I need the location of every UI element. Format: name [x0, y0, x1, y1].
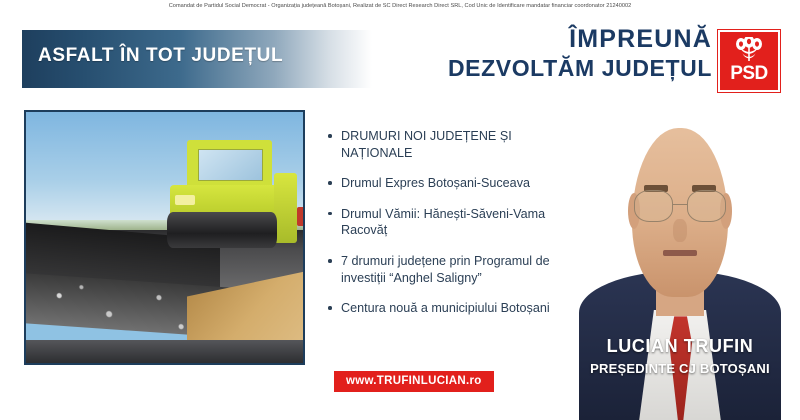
candidate-role: PREȘEDINTE CJ BOTOȘANI: [560, 361, 800, 376]
portrait-nose: [673, 219, 687, 242]
road-works-photo: [24, 110, 305, 365]
list-item-label: Drumul Expres Botoșani-Suceava: [341, 176, 530, 190]
candidate-name: LUCIAN TRUFIN: [560, 336, 800, 357]
website-link[interactable]: www.TRUFINLUCIAN.ro: [334, 371, 494, 392]
page-title: ASFALT ÎN TOT JUDEȚUL: [38, 45, 283, 67]
rose-emblem-icon: [720, 36, 778, 64]
list-item: 7 drumuri județene prin Programul de inv…: [326, 253, 586, 286]
candidate-name-block: LUCIAN TRUFIN PREȘEDINTE CJ BOTOȘANI: [560, 336, 800, 376]
psd-logo-text: PSD: [720, 63, 778, 85]
bullet-dot-icon: [328, 134, 332, 138]
background-truck: [297, 207, 305, 226]
promise-list: DRUMURI NOI JUDEȚENE ȘI NAȚIONALE Drumul…: [326, 128, 586, 331]
bullet-dot-icon: [328, 212, 332, 216]
list-item-label: Drumul Vămii: Hănești-Săveni-Vama Racovă…: [341, 207, 545, 238]
portrait-mouth: [663, 250, 697, 256]
list-item: Drumul Expres Botoșani-Suceava: [326, 175, 586, 192]
road-roller-icon: [165, 137, 292, 257]
roller-headlight: [175, 195, 195, 205]
glasses-lens-left: [634, 190, 672, 222]
list-item: Centura nouă a municipiului Botoșani: [326, 300, 586, 317]
bullet-dot-icon: [328, 181, 332, 185]
list-item: DRUMURI NOI JUDEȚENE ȘI NAȚIONALE: [326, 128, 586, 161]
roller-drum: [167, 212, 277, 248]
roller-windshield: [198, 149, 264, 181]
list-item-label: DRUMURI NOI JUDEȚENE ȘI NAȚIONALE: [341, 129, 512, 160]
legal-disclaimer: Comandat de Partidul Social Democrat - O…: [0, 3, 800, 9]
roller-rear-section: [274, 173, 297, 243]
slogan: ÎMPREUNĂ DEZVOLTĂM JUDEȚUL: [448, 26, 712, 80]
campaign-banner: Comandat de Partidul Social Democrat - O…: [0, 0, 800, 420]
glasses-bridge: [673, 204, 688, 206]
glasses-icon: [634, 190, 725, 222]
list-item-label: 7 drumuri județene prin Programul de inv…: [341, 254, 550, 285]
list-item-label: Centura nouă a municipiului Botoșani: [341, 301, 550, 315]
slogan-line-1: ÎMPREUNĂ: [448, 26, 712, 52]
glasses-lens-right: [687, 190, 725, 222]
photo-foreground-shadow: [26, 340, 303, 363]
list-item: Drumul Vămii: Hănești-Săveni-Vama Racovă…: [326, 206, 586, 239]
slogan-line-2: DEZVOLTĂM JUDEȚUL: [448, 56, 712, 80]
bullet-dot-icon: [328, 259, 332, 263]
bullet-dot-icon: [328, 306, 332, 310]
psd-logo: PSD: [718, 30, 780, 92]
